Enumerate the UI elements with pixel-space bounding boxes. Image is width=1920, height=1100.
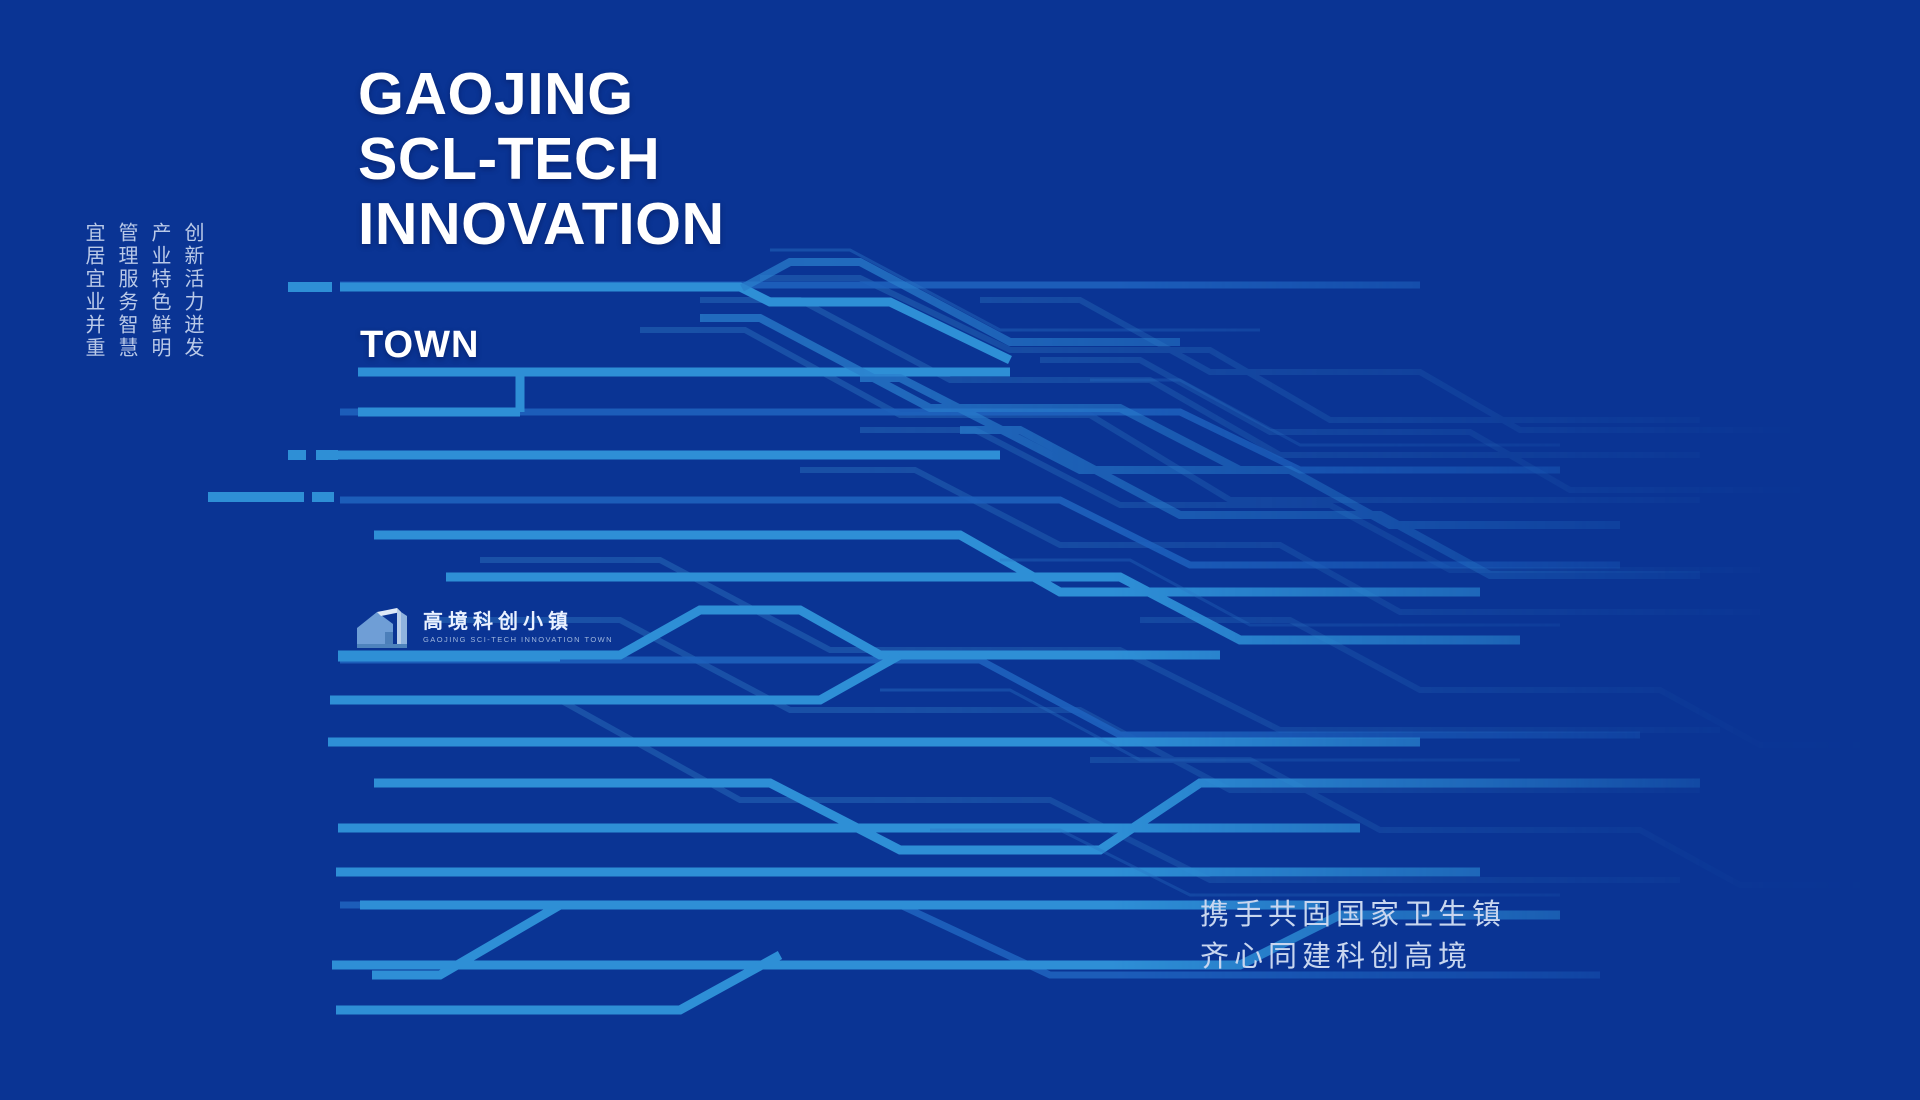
vertical-slogan-line-3: 管理服务智慧 xyxy=(115,222,139,360)
headline-line-2: SCL-TECH xyxy=(358,127,725,192)
bottom-slogan-block: 携手共固国家卫生镇 齐心同建科创高境 xyxy=(1200,895,1506,975)
vertical-slogan-line-1: 创新活力迸发 xyxy=(181,222,205,360)
logo-name-en: GAOJING SCI-TECH INNOVATION TOWN xyxy=(423,635,613,644)
house-building-icon xyxy=(355,604,413,650)
headline-subtitle: TOWN xyxy=(360,324,479,366)
logo-name-cn: 高境科创小镇 xyxy=(423,610,613,632)
headline-line-3: INNOVATION xyxy=(358,192,725,257)
headline-line-1: GAOJING xyxy=(358,62,725,127)
bottom-slogan-line-1: 携手共固国家卫生镇 xyxy=(1200,895,1506,933)
circuit-pattern-background xyxy=(0,0,1920,1100)
page-title: GAOJING SCL-TECH INNOVATION xyxy=(358,62,725,257)
logo-text-block: 高境科创小镇 GAOJING SCI-TECH INNOVATION TOWN xyxy=(423,610,613,644)
bottom-slogan-line-2: 齐心同建科创高境 xyxy=(1200,937,1506,975)
vertical-slogan-line-2: 产业特色鲜明 xyxy=(148,222,172,360)
vertical-slogan-block: 创新活力迸发 产业特色鲜明 管理服务智慧 宜居宜业并重 xyxy=(82,222,205,360)
brand-logo: 高境科创小镇 GAOJING SCI-TECH INNOVATION TOWN xyxy=(355,604,613,650)
poster-canvas: 创新活力迸发 产业特色鲜明 管理服务智慧 宜居宜业并重 GAOJING SCL-… xyxy=(0,0,1920,1100)
vertical-slogan-line-4: 宜居宜业并重 xyxy=(82,222,106,360)
